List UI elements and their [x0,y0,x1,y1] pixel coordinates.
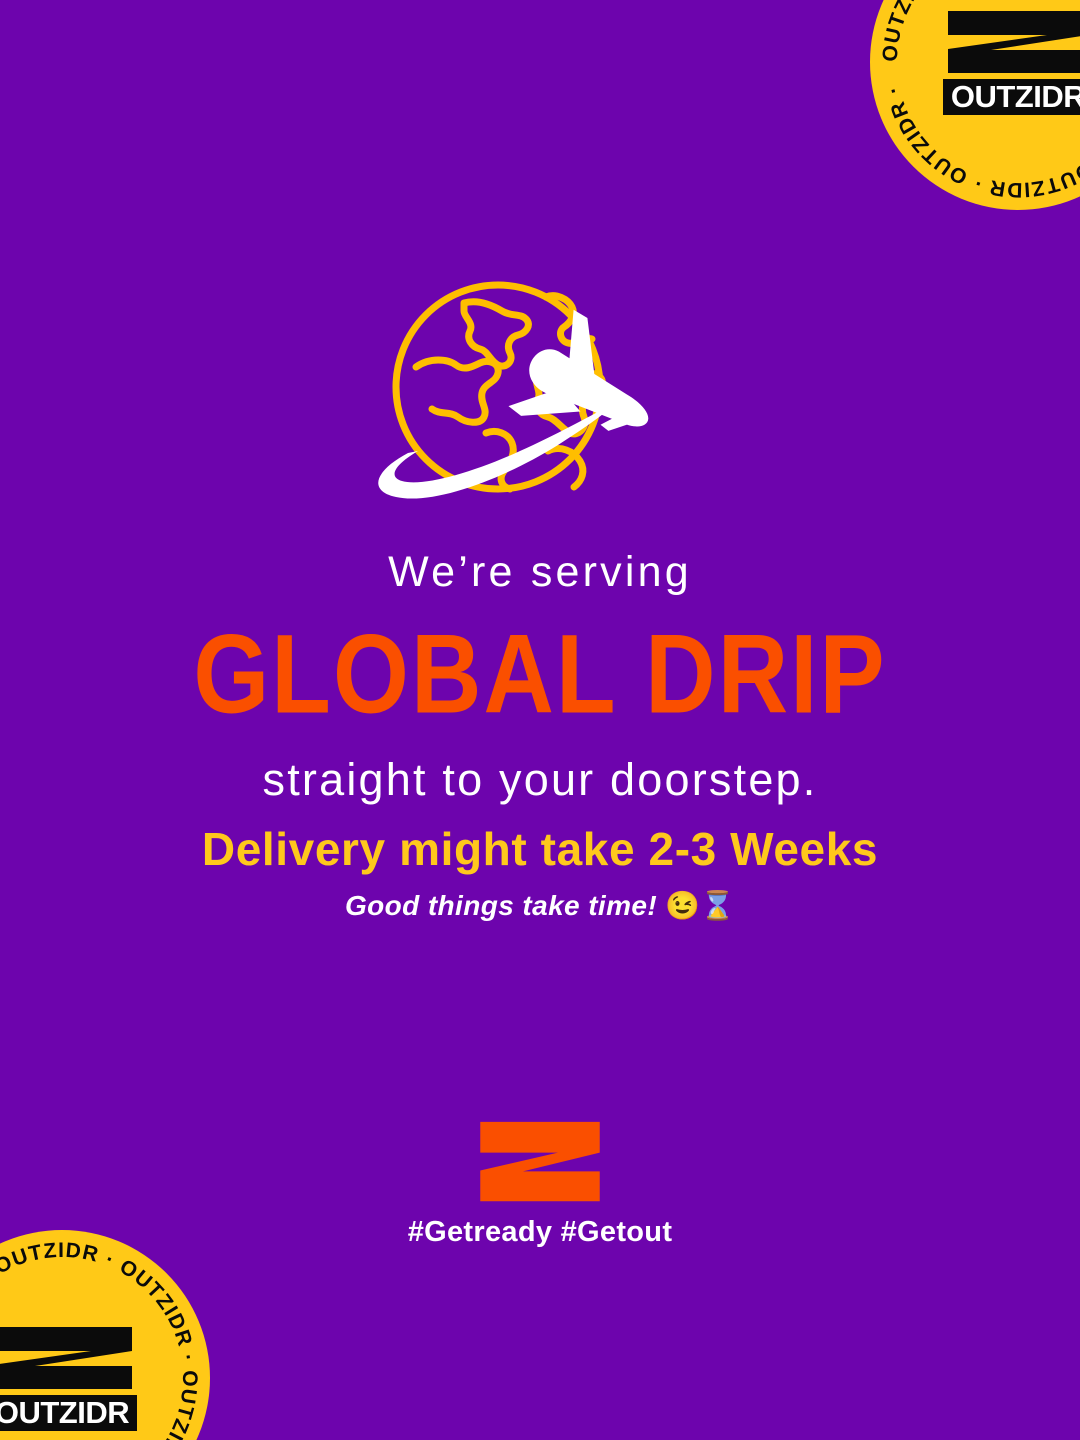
headline-line-1: We’re serving [0,548,1080,597]
globe-airplane-illustration [360,275,720,505]
sticker-core-bottom-left: OUTZIDR [0,1325,146,1431]
headline-line-2: GLOBAL DRIP [0,609,1080,741]
delivery-headline: Delivery might take 2-3 Weeks [0,822,1080,877]
poster-canvas: OUTZIDR · OUTZIDR · OUTZIDR · OUTZIDR · … [0,0,1080,1440]
outzidr-sticker-bottom-left: OUTZIDR · OUTZIDR · OUTZIDR · OUTZIDR · … [0,1230,210,1440]
globe-airplane-icon [360,275,720,505]
hourglass-icon: ⌛ [700,890,735,921]
sticker-core-label: OUTZIDR [943,79,1080,115]
z-logo-icon [0,1325,137,1391]
delivery-note-block: Delivery might take 2-3 Weeks Good thing… [0,822,1080,923]
z-logo-icon [943,9,1080,75]
delivery-subline: Good things take time! 😉⌛ [0,889,1080,923]
headline-block: We’re serving GLOBAL DRIP straight to yo… [0,548,1080,806]
headline-line-3: straight to your doorstep. [0,754,1080,806]
sticker-core-label: OUTZIDR [0,1395,137,1431]
delivery-subline-text: Good things take time! [345,890,657,921]
footer-block: #Getready #Getout [0,1120,1080,1249]
hashtags-label: #Getready #Getout [0,1216,1080,1249]
outzidr-sticker-top-right: OUTZIDR · OUTZIDR · OUTZIDR · OUTZIDR · … [870,0,1080,210]
sticker-core-top-right: OUTZIDR [934,9,1080,115]
winking-face-icon: 😉 [665,890,700,921]
z-logo-icon [476,1120,604,1204]
